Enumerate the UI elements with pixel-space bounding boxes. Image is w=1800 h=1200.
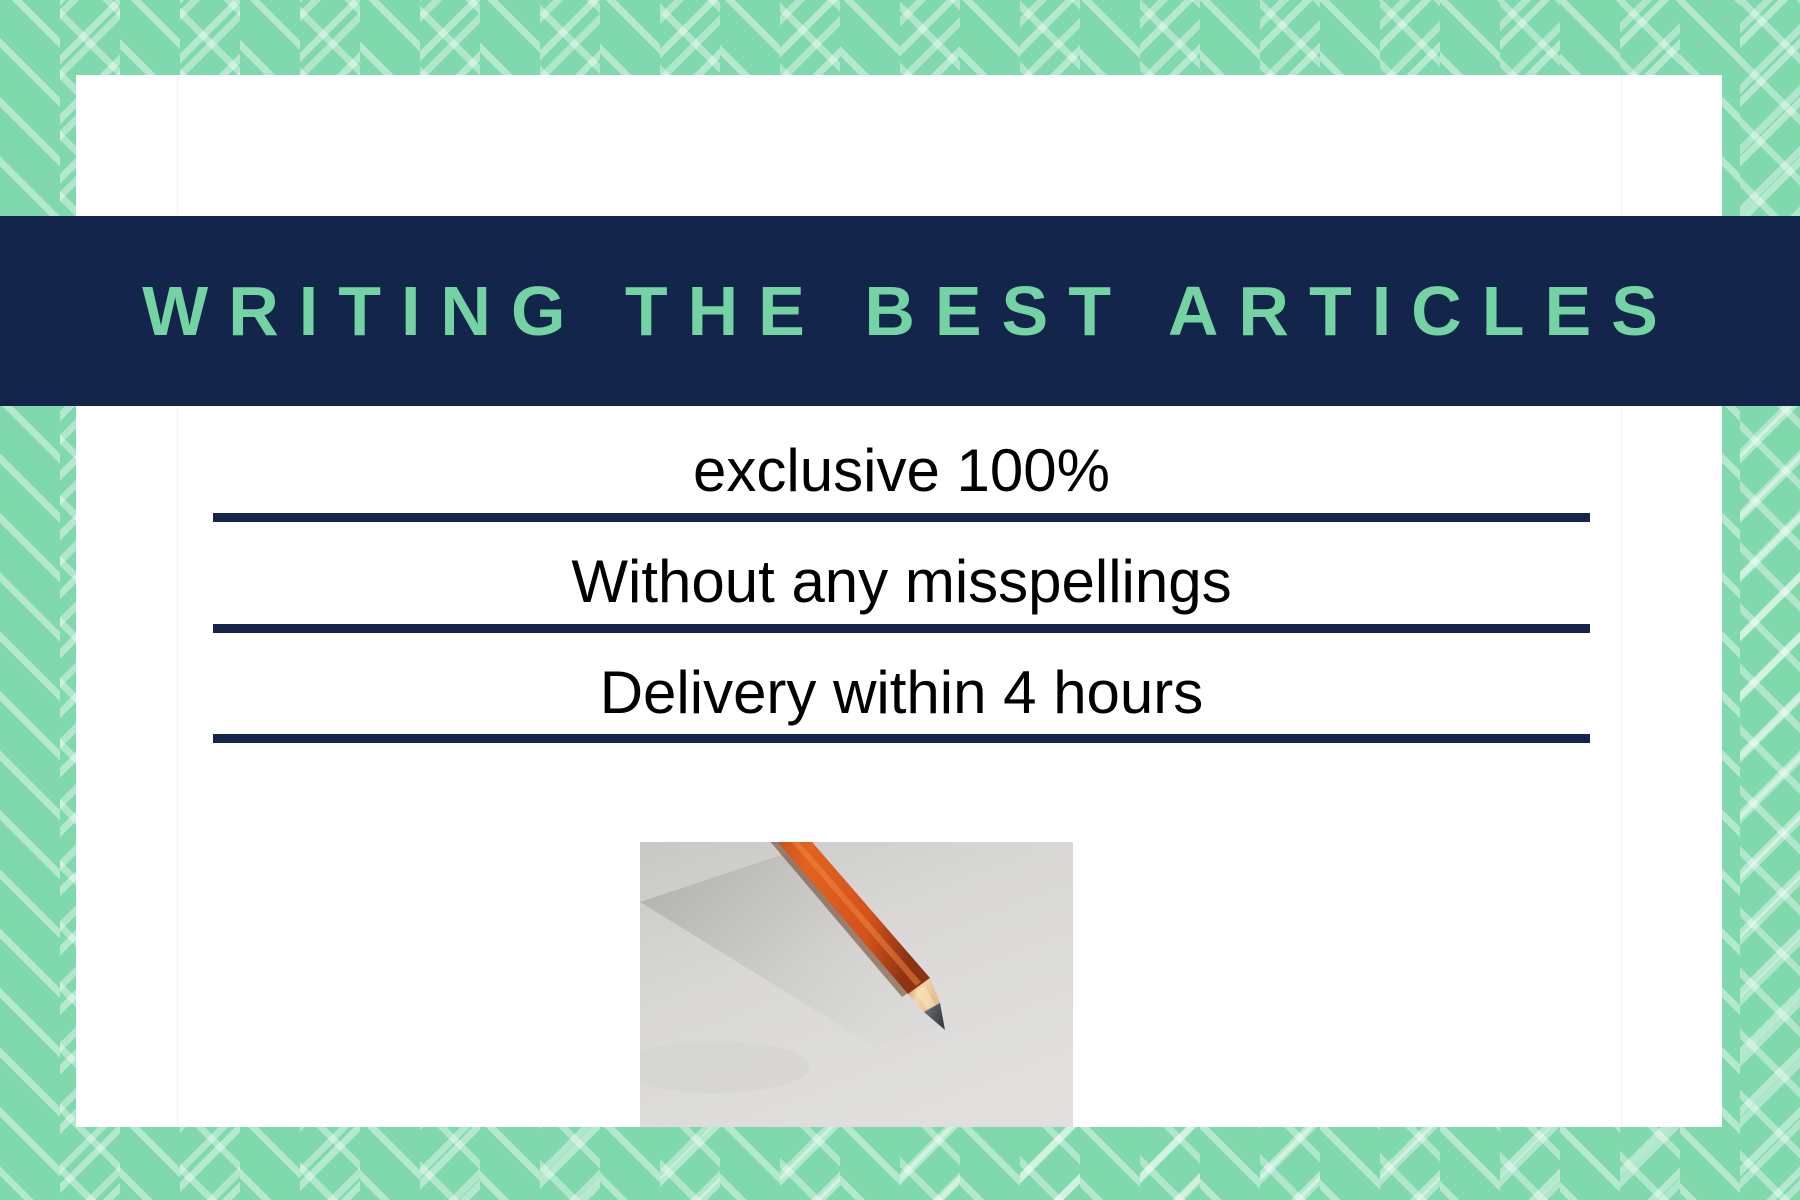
pencil-photo [640, 842, 1073, 1127]
list-item-divider [213, 734, 1590, 743]
list-spacer [213, 522, 1590, 541]
list-item-divider [213, 513, 1590, 522]
list-item-divider [213, 624, 1590, 633]
list-item-label: Delivery within 4 hours [213, 652, 1590, 735]
list-item-label: exclusive 100% [213, 430, 1590, 513]
list-item: Without any misspellings [213, 541, 1590, 633]
list-spacer [213, 633, 1590, 652]
page-title: WRITING THE BEST ARTICLES [122, 276, 1678, 346]
list-item: Delivery within 4 hours [213, 652, 1590, 744]
list-item-label: Without any misspellings [213, 541, 1590, 624]
slide: WRITING THE BEST ARTICLES exclusive 100%… [0, 0, 1800, 1200]
title-banner: WRITING THE BEST ARTICLES [0, 216, 1800, 406]
pencil-illustration [640, 842, 1073, 1127]
list-item: exclusive 100% [213, 430, 1590, 522]
feature-list: exclusive 100% Without any misspellings … [213, 430, 1590, 743]
